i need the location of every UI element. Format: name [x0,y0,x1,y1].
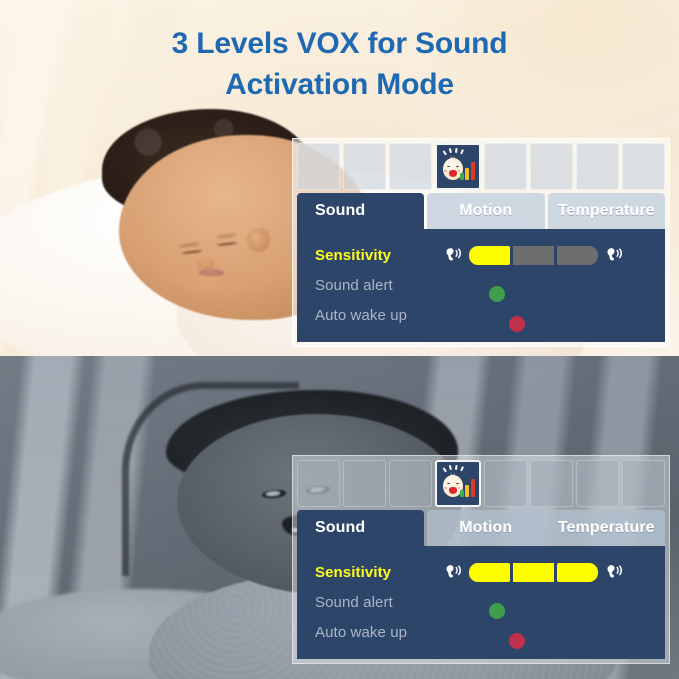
baby-eye-left [182,250,202,255]
baby-brow-left [179,242,200,247]
glyph-open-mouth [449,170,457,177]
panel-frame: Sound Motion Temperature Sensitivity [292,455,670,664]
tab-row-night: Sound Motion Temperature [297,510,665,546]
sensitivity-segment-2[interactable] [513,563,554,582]
icon-slot-7[interactable] [576,143,619,190]
icon-slot-3[interactable] [389,143,432,190]
monitor-ui-panel-day: Sound Motion Temperature Sensitivity [292,138,670,347]
sound-level-bars-icon [460,479,475,497]
sensitivity-label: Sensitivity [315,564,443,581]
baby-eye-right [217,241,237,246]
icon-slot-6[interactable] [530,460,573,507]
icon-strip-day [297,143,665,190]
ear-sound-low-icon [443,246,463,264]
icon-slot-2[interactable] [343,143,386,190]
baby-brow-right [216,234,237,239]
auto-wake-up-label: Auto wake up [315,307,443,324]
icon-slot-3[interactable] [389,460,432,507]
product-feature-image: 3 Levels VOX for Sound Activation Mode [0,0,679,679]
sound-bar-2 [465,485,469,497]
tab-row-day: Sound Motion Temperature [297,193,665,229]
panel-frame: Sound Motion Temperature Sensitivity [292,138,670,347]
toggle-knob [509,316,525,332]
icon-slot-8[interactable] [622,460,665,507]
sensitivity-segment-1[interactable] [469,246,510,265]
row-sound-alert-day: Sound alert [297,272,665,298]
sound-bar-3 [471,479,475,497]
sound-ray-1 [442,150,446,155]
settings-body-day: Sensitivity [297,229,665,342]
sensitivity-segment-3[interactable] [557,563,598,582]
crying-baby-glyph [437,462,478,505]
sound-ray-3 [455,465,458,470]
sound-ray-4 [460,466,464,472]
sound-ray-2 [448,148,451,153]
tab-temperature[interactable]: Temperature [548,510,666,546]
sound-bar-3 [471,162,475,180]
tab-temperature[interactable]: Temperature [548,193,666,229]
auto-wake-up-label: Auto wake up [315,624,443,641]
row-auto-wake-up-day: Auto wake up [297,302,665,328]
sound-bar-1 [460,173,464,180]
toggle-knob [489,286,505,302]
tab-motion[interactable]: Motion [427,193,545,229]
row-auto-wake-up-night: Auto wake up [297,619,665,645]
icon-slot-8[interactable] [622,143,665,190]
crying-baby-sound-icon[interactable] [435,460,480,507]
baby-ear-shape [247,228,270,252]
ear-sound-low-icon [443,563,463,581]
glyph-cheek-left [444,487,446,489]
tab-motion[interactable]: Motion [427,510,545,546]
icon-slot-7[interactable] [576,460,619,507]
sound-bar-2 [465,168,469,180]
toggle-knob [489,603,505,619]
monitor-ui-panel-night: Sound Motion Temperature Sensitivity [292,455,670,664]
settings-body-night: Sensitivity [297,546,665,659]
sensitivity-segment-3[interactable] [557,246,598,265]
tab-sound[interactable]: Sound [297,510,424,546]
sensitivity-level-bar-night[interactable] [469,563,598,582]
icon-slot-1[interactable] [297,143,340,190]
ear-sound-high-icon [604,563,624,581]
sound-ray-2 [448,465,451,470]
icon-slot-5[interactable] [484,143,527,190]
sound-ray-1 [442,467,446,472]
icon-slot-2[interactable] [343,460,386,507]
sound-level-bars-icon [460,162,475,180]
sensitivity-segment-1[interactable] [469,563,510,582]
icon-slot-5[interactable] [484,460,527,507]
tab-sound[interactable]: Sound [297,193,424,229]
sensitivity-segment-2[interactable] [513,246,554,265]
ear-sound-high-icon [604,246,624,264]
crying-baby-glyph [437,145,478,188]
row-sensitivity-day: Sensitivity [297,242,665,268]
toggle-knob [509,633,525,649]
crying-baby-sound-icon[interactable] [435,143,480,190]
baby-mouth-shape [199,269,224,275]
sensitivity-label: Sensitivity [315,247,443,264]
row-sensitivity-night: Sensitivity [297,559,665,585]
glyph-cheek-left [444,170,446,172]
sound-ray-3 [455,148,458,153]
sensitivity-level-bar-day[interactable] [469,246,598,265]
icon-slot-1[interactable] [297,460,340,507]
icon-slot-6[interactable] [530,143,573,190]
sound-bar-1 [460,490,464,497]
glyph-open-mouth [449,487,457,494]
sound-ray-4 [460,149,464,155]
icon-strip-night [297,460,665,507]
baby-nose-shape [198,259,214,268]
row-sound-alert-night: Sound alert [297,589,665,615]
sound-alert-label: Sound alert [315,594,443,611]
sound-alert-label: Sound alert [315,277,443,294]
